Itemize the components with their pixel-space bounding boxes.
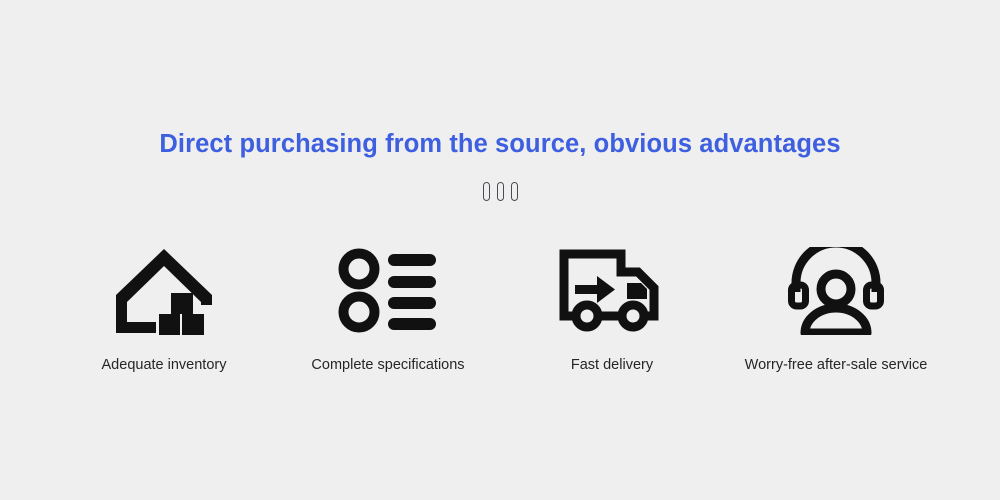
feature-label: Adequate inventory: [102, 357, 227, 374]
feature-item-adequate-inventory: Adequate inventory: [52, 243, 276, 374]
headset-support-icon: [788, 243, 884, 339]
feature-item-after-sale-service: Worry-free after-sale service: [724, 243, 948, 374]
feature-label: Fast delivery: [571, 357, 653, 374]
triple-pip-divider: [0, 182, 1000, 201]
divider-pip-1: [483, 182, 490, 201]
warehouse-boxes-icon: [114, 243, 214, 339]
page-title: Direct purchasing from the source, obvio…: [159, 129, 840, 160]
feature-item-complete-specifications: Complete specifications: [276, 243, 500, 374]
delivery-truck-icon: [559, 243, 665, 339]
feature-list: Adequate inventory Complete specific: [52, 243, 948, 374]
divider-pip-2: [497, 182, 504, 201]
divider-pip-3: [511, 182, 518, 201]
feature-label: Worry-free after-sale service: [745, 357, 928, 374]
feature-item-fast-delivery: Fast delivery: [500, 243, 724, 374]
specification-list-icon: [338, 243, 438, 339]
advantages-banner: Direct purchasing from the source, obvio…: [0, 0, 1000, 500]
title-block: Direct purchasing from the source, obvio…: [0, 112, 1000, 177]
feature-label: Complete specifications: [311, 357, 464, 374]
